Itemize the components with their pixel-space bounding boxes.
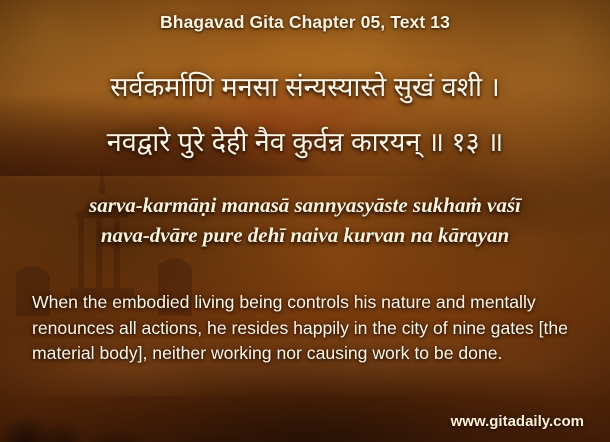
- website-url: www.gitadaily.com: [451, 413, 584, 430]
- transliteration-line-2: nava-dvāre pure dehī naiva kurvan na kār…: [0, 220, 610, 250]
- transliteration: sarva-karmāṇi manasā sannyasyāste sukhaṁ…: [0, 190, 610, 250]
- sanskrit-verse: सर्वकर्माणि मनसा संन्यस्यास्ते सुखं वशी …: [0, 60, 610, 170]
- sanskrit-line-1: सर्वकर्माणि मनसा संन्यस्यास्ते सुखं वशी …: [0, 60, 610, 115]
- gita-verse-card: Bhagavad Gita Chapter 05, Text 13 सर्वकर…: [0, 0, 610, 442]
- sanskrit-line-2: नवद्वारे पुरे देही नैव कुर्वन्न कारयन् ॥…: [0, 115, 610, 170]
- transliteration-line-1: sarva-karmāṇi manasā sannyasyāste sukhaṁ…: [0, 190, 610, 220]
- page-title: Bhagavad Gita Chapter 05, Text 13: [0, 12, 610, 33]
- translation-text: When the embodied living being controls …: [32, 290, 584, 367]
- foliage-silhouette: [0, 372, 290, 442]
